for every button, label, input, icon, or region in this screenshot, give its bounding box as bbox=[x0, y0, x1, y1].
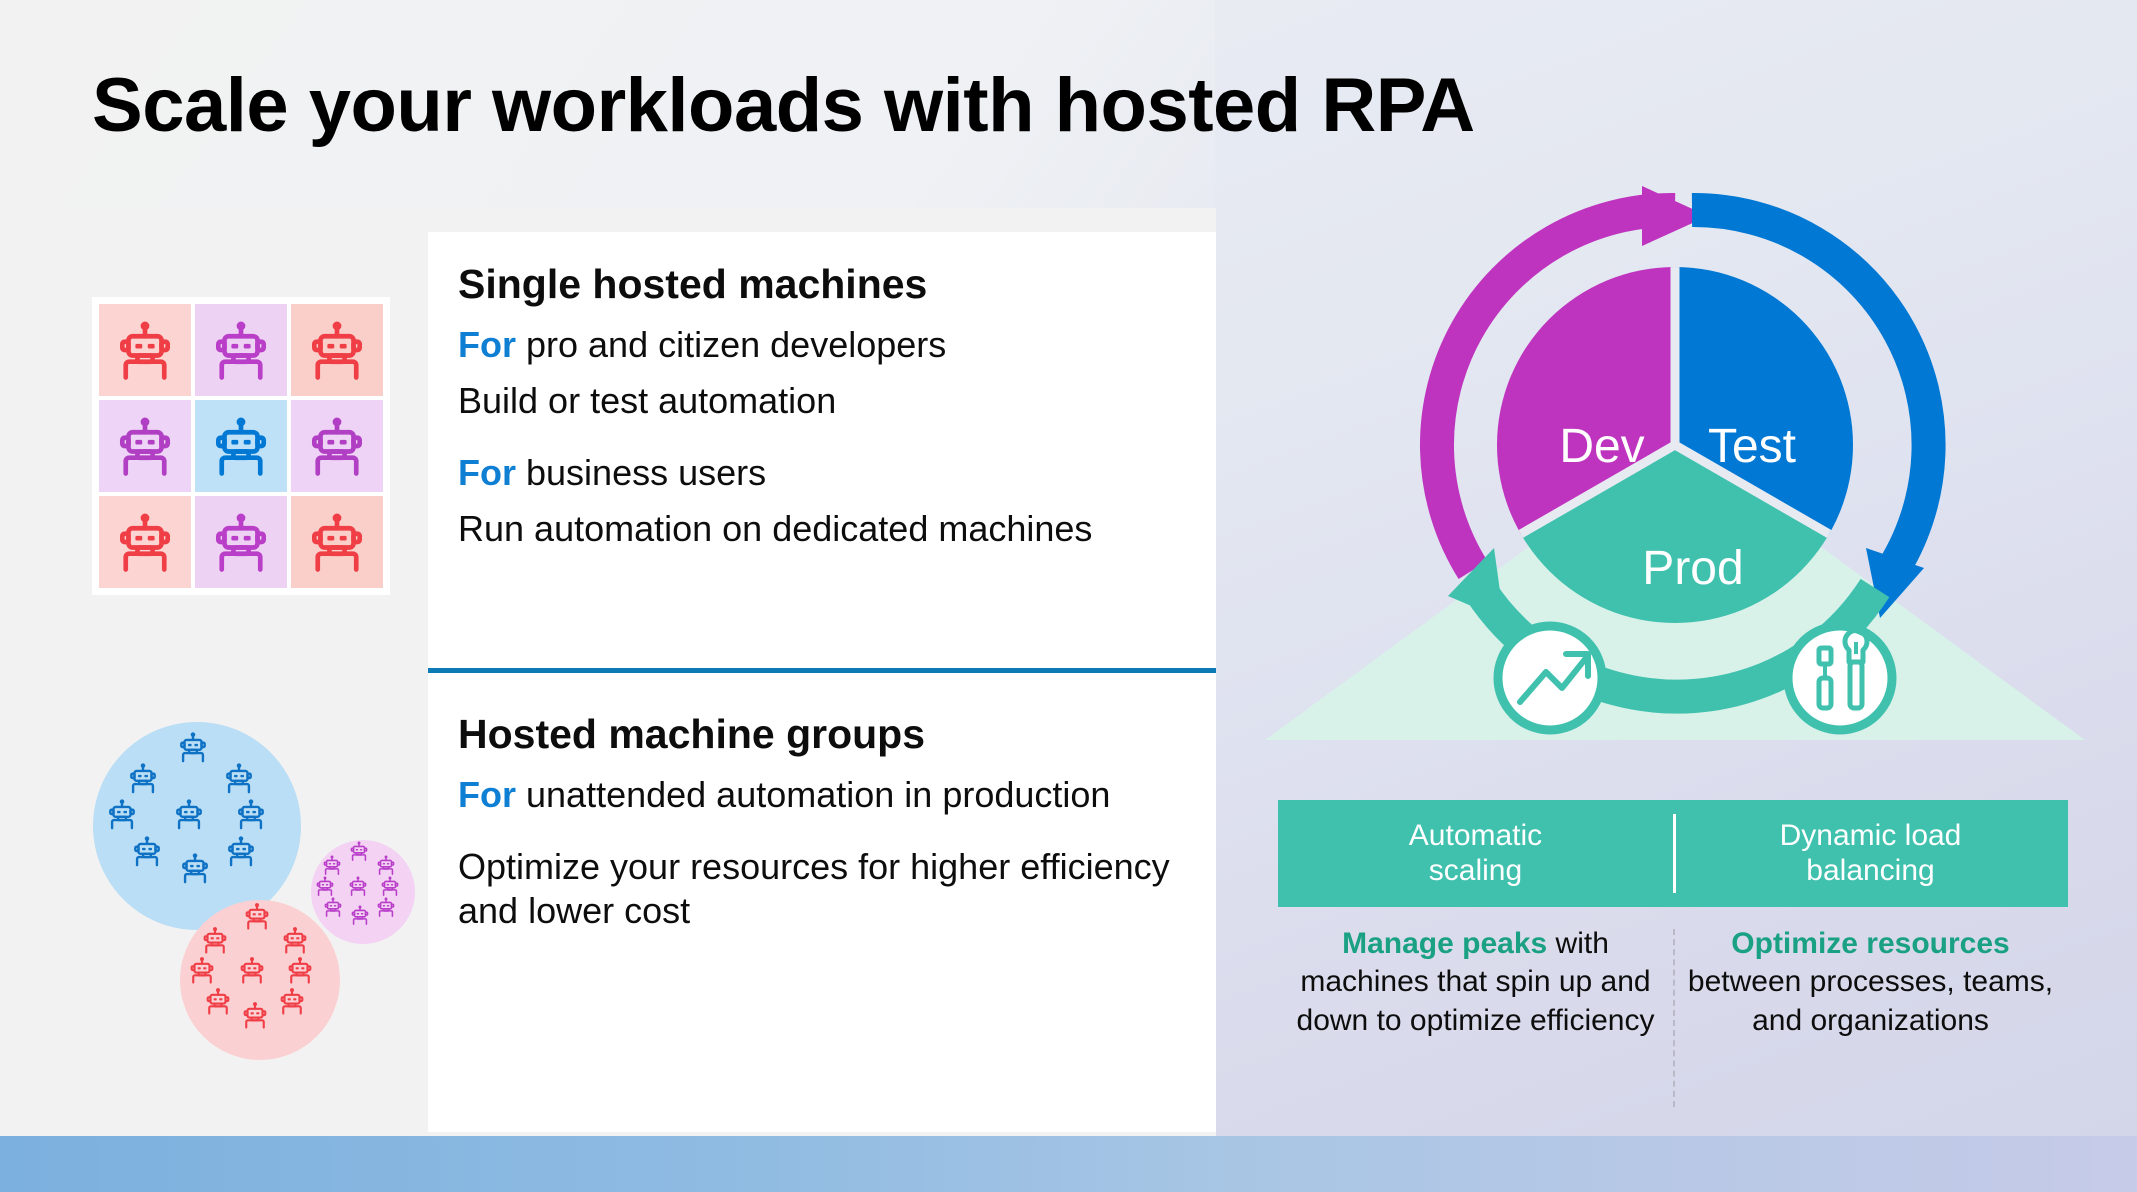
purple-cluster-robot-8 bbox=[349, 904, 371, 931]
robot-icon bbox=[242, 901, 272, 931]
captions-separator bbox=[1673, 929, 1677, 1107]
capability-captions: Manage peaks with machines that spin up … bbox=[1278, 925, 2068, 1115]
robot-icon bbox=[347, 875, 369, 897]
robot-icon bbox=[277, 986, 307, 1016]
robot-icon bbox=[348, 840, 370, 862]
pink-cluster-robot-8 bbox=[240, 1000, 270, 1035]
robot-icon bbox=[349, 904, 371, 926]
robot-icon bbox=[112, 509, 178, 575]
blue-cluster-robot-9 bbox=[224, 834, 258, 873]
robot-icon bbox=[304, 317, 370, 383]
section-single-hosted-machines: Single hosted machines For pro and citiz… bbox=[458, 262, 1198, 563]
robot-icon bbox=[222, 761, 256, 795]
robot-icon bbox=[224, 834, 258, 868]
robot-icon bbox=[130, 834, 164, 868]
blue-cluster-robot-4 bbox=[105, 797, 139, 836]
robot-icon bbox=[304, 413, 370, 479]
robot-icon bbox=[105, 797, 139, 831]
robot-icon bbox=[208, 509, 274, 575]
robot-icon bbox=[322, 896, 344, 918]
section-line: For pro and citizen developers bbox=[458, 323, 1198, 367]
pink-cluster-robot-7 bbox=[203, 986, 233, 1021]
robot-icon bbox=[234, 797, 268, 831]
section-line: Build or test automation bbox=[458, 379, 1198, 423]
line-text: business users bbox=[516, 452, 766, 493]
robot-icon bbox=[375, 854, 397, 876]
card-section-divider bbox=[428, 668, 1216, 673]
robot-grid-cell-1 bbox=[99, 304, 191, 396]
caption-manage-peaks: Manage peaks with machines that spin up … bbox=[1278, 925, 1673, 1115]
capability-bar: Automatic scaling Dynamic load balancing bbox=[1278, 800, 2068, 907]
robot-icon bbox=[314, 875, 336, 897]
robot-icon bbox=[237, 955, 267, 985]
robot-icon bbox=[304, 509, 370, 575]
purple-cluster-robot-5 bbox=[347, 875, 369, 902]
pink-cluster-robot-1 bbox=[242, 901, 272, 936]
robot-icon bbox=[285, 955, 315, 985]
robot-grid-cell-5 bbox=[195, 400, 287, 492]
robot-grid-cell-4 bbox=[99, 400, 191, 492]
section-line: For unattended automation in production bbox=[458, 773, 1198, 817]
caption-optimize-resources: Optimize resources between processes, te… bbox=[1673, 925, 2068, 1115]
blue-cluster-robot-1 bbox=[176, 730, 210, 769]
blue-cluster-robot-7 bbox=[130, 834, 164, 873]
pink-cluster-robot-9 bbox=[277, 986, 307, 1021]
for-label: For bbox=[458, 774, 516, 815]
robot-icon bbox=[240, 1000, 270, 1030]
robot-icon bbox=[280, 925, 310, 955]
single-machines-illustration bbox=[92, 297, 390, 595]
robot-grid-cell-7 bbox=[99, 496, 191, 588]
robot-icon bbox=[321, 854, 343, 876]
purple-cluster-robot-9 bbox=[375, 896, 397, 923]
automatic-scaling-label: Automatic scaling bbox=[1278, 800, 1673, 907]
line-text: pro and citizen developers bbox=[516, 324, 946, 365]
trending-up-badge bbox=[1498, 626, 1602, 730]
robot-icon bbox=[379, 875, 401, 897]
robot-grid-cell-2 bbox=[195, 304, 287, 396]
purple-cluster-robot-1 bbox=[348, 840, 370, 867]
robot-icon bbox=[178, 851, 212, 885]
capability-bar-separator bbox=[1673, 814, 1676, 893]
robot-icon bbox=[208, 413, 274, 479]
robot-grid-cell-6 bbox=[291, 400, 383, 492]
dynamic-load-balancing-label: Dynamic load balancing bbox=[1673, 800, 2068, 907]
robot-icon bbox=[375, 896, 397, 918]
section-heading: Single hosted machines bbox=[458, 262, 1198, 307]
robot-icon bbox=[112, 317, 178, 383]
blue-cluster-robot-3 bbox=[222, 761, 256, 800]
test-label: Test bbox=[1708, 420, 1796, 473]
prod-label: Prod bbox=[1642, 542, 1743, 595]
blue-cluster-robot-6 bbox=[234, 797, 268, 836]
pink-cluster-robot-5 bbox=[237, 955, 267, 990]
tools-badge bbox=[1788, 626, 1892, 730]
caption-highlight: Optimize resources bbox=[1731, 927, 2009, 960]
for-label: For bbox=[458, 324, 516, 365]
blue-cluster-robot-2 bbox=[126, 761, 160, 800]
robot-grid-cell-9 bbox=[291, 496, 383, 588]
page-title: Scale your workloads with hosted RPA bbox=[92, 62, 1475, 149]
machine-groups-illustration bbox=[80, 710, 430, 1070]
robot-icon bbox=[176, 730, 210, 764]
robot-icon bbox=[126, 761, 160, 795]
robot-icon bbox=[208, 317, 274, 383]
section-line: For business users bbox=[458, 451, 1198, 495]
robot-icon bbox=[112, 413, 178, 479]
blue-cluster-robot-5 bbox=[172, 797, 206, 836]
robot-icon bbox=[172, 797, 206, 831]
robot-grid-cell-8 bbox=[195, 496, 287, 588]
line-text: unattended automation in production bbox=[516, 774, 1110, 815]
caption-highlight: Manage peaks bbox=[1342, 927, 1547, 960]
section-line: Optimize your resources for higher effic… bbox=[458, 845, 1198, 933]
robot-icon bbox=[203, 986, 233, 1016]
bottom-accent-bar bbox=[0, 1136, 1215, 1192]
purple-cluster-robot-7 bbox=[322, 896, 344, 923]
section-hosted-machine-groups: Hosted machine groups For unattended aut… bbox=[458, 712, 1198, 945]
robot-grid-cell-3 bbox=[291, 304, 383, 396]
blue-cluster-robot-8 bbox=[178, 851, 212, 890]
dev-label: Dev bbox=[1559, 420, 1644, 473]
robot-icon bbox=[187, 955, 217, 985]
section-heading: Hosted machine groups bbox=[458, 712, 1198, 757]
robot-icon bbox=[200, 925, 230, 955]
caption-text: between processes, teams, and organizati… bbox=[1688, 965, 2053, 1036]
for-label: For bbox=[458, 452, 516, 493]
section-line: Run automation on dedicated machines bbox=[458, 507, 1198, 551]
